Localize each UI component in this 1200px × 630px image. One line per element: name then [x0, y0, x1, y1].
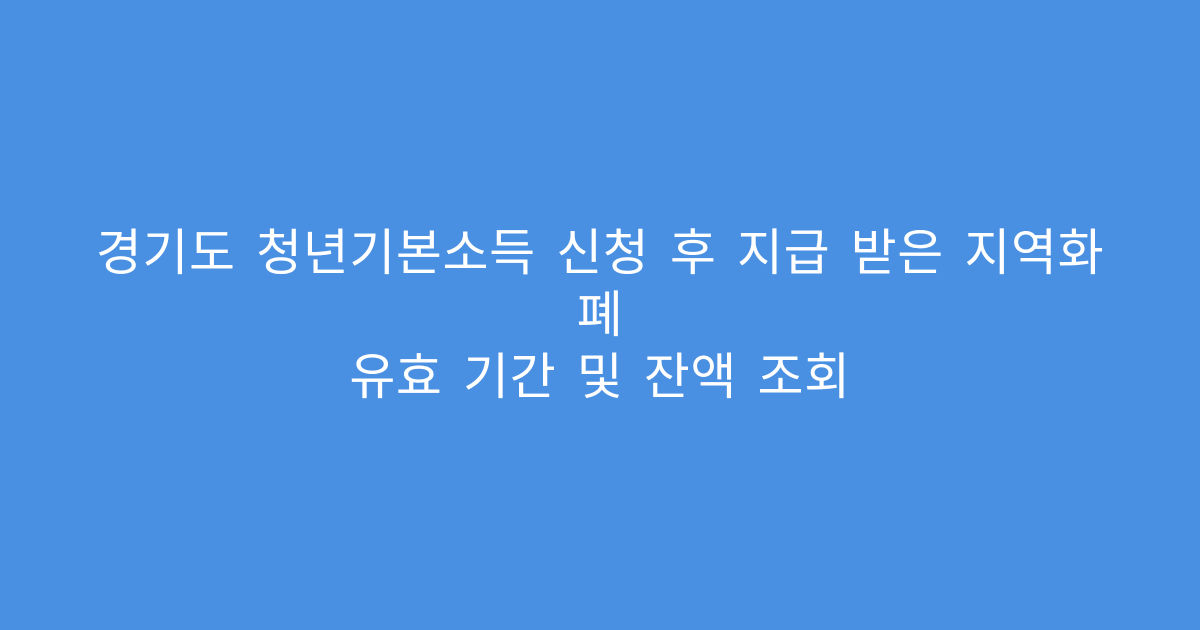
- og-image-card: 경기도 청년기본소득 신청 후 지급 받은 지역화폐 유효 기간 및 잔액 조회: [0, 0, 1200, 630]
- title-block: 경기도 청년기본소득 신청 후 지급 받은 지역화폐 유효 기간 및 잔액 조회: [50, 222, 1150, 408]
- page-title: 경기도 청년기본소득 신청 후 지급 받은 지역화폐 유효 기간 및 잔액 조회: [80, 222, 1120, 408]
